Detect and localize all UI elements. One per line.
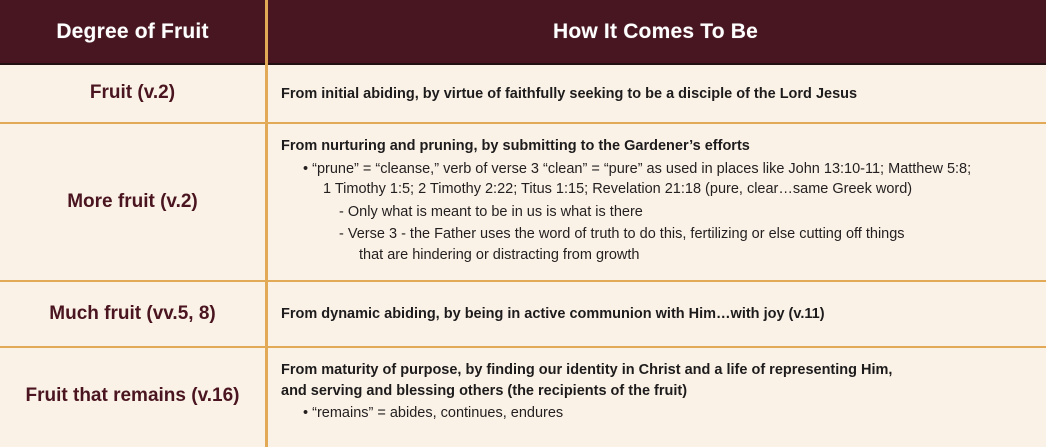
cell-degree: More fruit (v.2) [0,124,265,280]
sub-point: • “prune” = “cleanse,” verb of verse 3 “… [303,159,1032,200]
sub-point-text: “prune” = “cleanse,” verb of verse 3 “cl… [312,161,971,177]
column-header-degree-of-fruit-label: Degree of Fruit [56,20,208,44]
table-header-row: Degree of Fruit How It Comes To Be [0,0,1046,65]
table-row: Fruit that remains (v.16) From maturity … [0,348,1046,445]
cell-how: From initial abiding, by virtue of faith… [265,65,1046,122]
cell-degree: Much fruit (vv.5, 8) [0,282,265,346]
sub-point-continuation: that are hindering or distracting from g… [359,245,1032,266]
row-lead-continuation: and serving and blessing others (the rec… [281,381,1032,402]
degree-label: More fruit (v.2) [67,191,198,214]
cell-degree: Fruit (v.2) [0,65,265,122]
cell-how: From nurturing and pruning, by submittin… [265,124,1046,280]
degree-label: Much fruit (vv.5, 8) [49,303,215,326]
sub-point: • “remains” = abides, continues, endures [303,403,1032,424]
column-header-how-it-comes-to-be: How It Comes To Be [265,0,1046,63]
sub-point-text: “remains” = abides, continues, endures [312,405,563,421]
row-lead-text: From nurturing and pruning, by submittin… [281,136,1032,157]
sub-point-continuation: 1 Timothy 1:5; 2 Timothy 2:22; Titus 1:1… [323,179,1032,200]
table-row: Much fruit (vv.5, 8) From dynamic abidin… [0,282,1046,348]
cell-degree: Fruit that remains (v.16) [0,348,265,445]
cell-how: From maturity of purpose, by finding our… [265,348,1046,445]
bullet-icon: • [303,161,308,177]
sub-point-text: Only what is meant to be in us is what i… [348,204,643,220]
row-lead-text: From initial abiding, by virtue of faith… [281,83,857,105]
row-lead-text: From dynamic abiding, by being in active… [281,303,825,325]
table-row: Fruit (v.2) From initial abiding, by vir… [0,65,1046,124]
table-body: Fruit (v.2) From initial abiding, by vir… [0,65,1046,445]
column-header-degree-of-fruit: Degree of Fruit [0,0,265,63]
sub-point: - Only what is meant to be in us is what… [339,202,1032,223]
cell-how: From dynamic abiding, by being in active… [265,282,1046,346]
degree-label: Fruit (v.2) [90,82,175,105]
dash-icon: - [339,226,344,242]
column-header-how-it-comes-to-be-label: How It Comes To Be [553,20,758,44]
sub-point-text: Verse 3 - the Father uses the word of tr… [348,226,905,242]
degree-label: Fruit that remains (v.16) [26,385,240,408]
column-divider [265,0,268,447]
dash-icon: - [339,204,344,220]
table-row: More fruit (v.2) From nurturing and prun… [0,124,1046,282]
row-lead-text: From maturity of purpose, by finding our… [281,360,1032,381]
fruit-degrees-table: Degree of Fruit How It Comes To Be Fruit… [0,0,1046,447]
bullet-icon: • [303,405,308,421]
sub-point: - Verse 3 - the Father uses the word of … [339,224,1032,265]
